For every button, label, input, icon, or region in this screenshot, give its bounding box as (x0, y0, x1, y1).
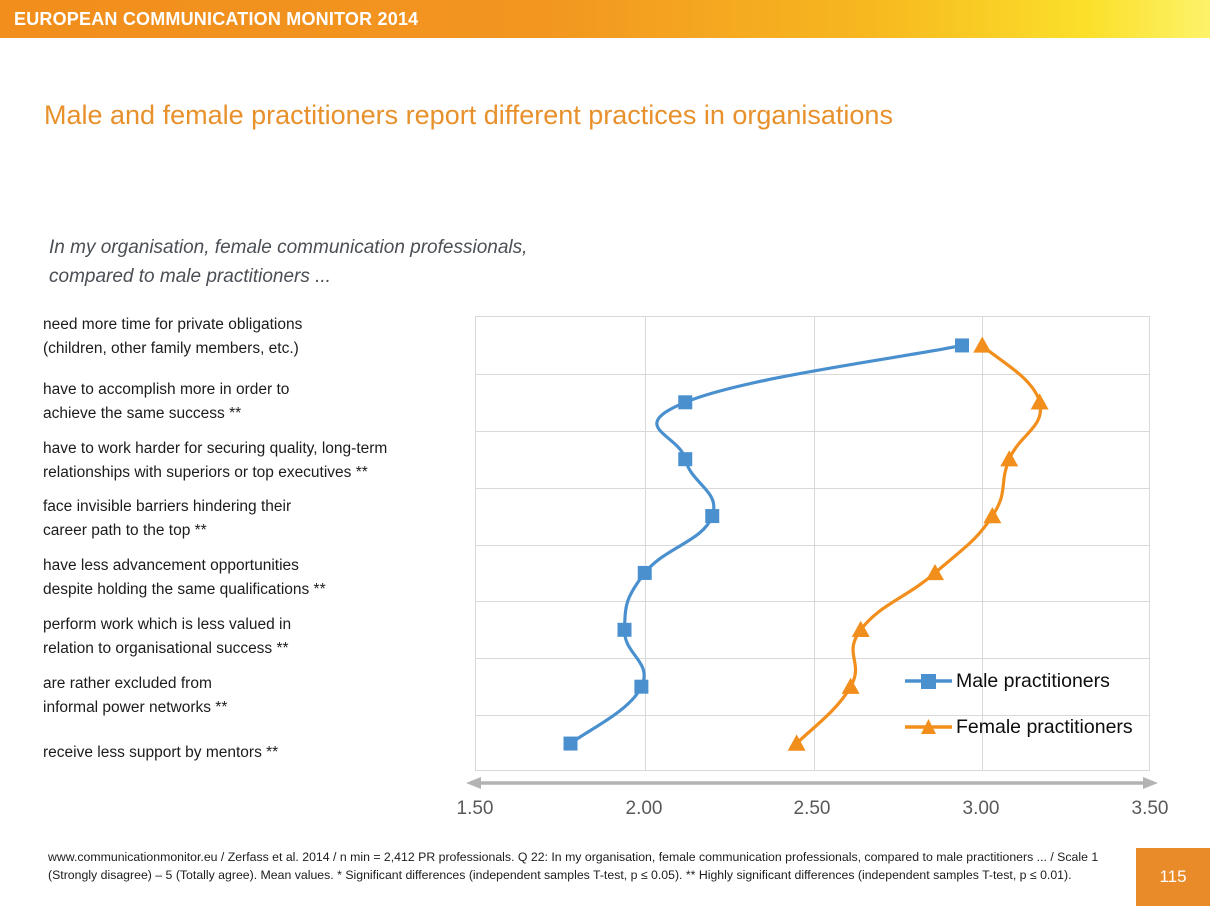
x-axis-arrow (466, 775, 1158, 791)
category-label-8: receive less support by mentors ** (43, 741, 278, 765)
legend-label-male: Male practitioners (956, 670, 1110, 693)
category-label-4: face invisible barriers hindering their … (43, 495, 291, 542)
data-point-female-practitioners-4 (983, 507, 1001, 523)
category-label-7-line1: are rather excluded from (43, 672, 227, 696)
question-stem-line-1: In my organisation, female communication… (49, 233, 689, 262)
header-band: EUROPEAN COMMUNICATION MONITOR 2014 (0, 0, 1210, 38)
data-point-male-practitioners-5 (638, 566, 652, 580)
legend-marker-square-icon (905, 672, 952, 690)
category-label-6-line1: perform work which is less valued in (43, 613, 291, 637)
question-stem: In my organisation, female communication… (49, 233, 689, 292)
category-label-8-line1: receive less support by mentors ** (43, 741, 278, 765)
question-stem-line-2: compared to male practitioners ... (49, 262, 689, 291)
x-tick-label-2: 2.00 (626, 798, 663, 820)
category-label-5-line2: despite holding the same qualifications … (43, 578, 326, 602)
category-label-4-line2: career path to the top ** (43, 519, 291, 543)
data-point-male-practitioners-4 (705, 509, 719, 523)
data-point-male-practitioners-2 (678, 395, 692, 409)
data-point-male-practitioners-1 (955, 338, 969, 352)
legend-item-female[interactable]: Female practitioners (905, 710, 1133, 744)
category-label-3: have to work harder for securing quality… (43, 437, 387, 484)
category-label-5-line1: have less advancement opportunities (43, 554, 326, 578)
category-label-1-line1: need more time for private obligations (43, 313, 302, 337)
data-point-female-practitioners-1 (973, 336, 991, 352)
category-label-3-line2: relationships with superiors or top exec… (43, 461, 387, 485)
x-tick-label-5: 3.50 (1132, 798, 1169, 820)
chart-legend: Male practitioners Female practitioners (905, 664, 1133, 756)
x-tick-label-4: 3.00 (963, 798, 1000, 820)
category-label-6: perform work which is less valued in rel… (43, 613, 291, 660)
data-point-male-practitioners-7 (634, 680, 648, 694)
x-tick-label-3: 2.50 (794, 798, 831, 820)
category-label-5: have less advancement opportunities desp… (43, 554, 326, 601)
page-title: Male and female practitioners report dif… (44, 100, 1104, 131)
data-point-female-practitioners-3 (1000, 450, 1018, 466)
category-label-4-line1: face invisible barriers hindering their (43, 495, 291, 519)
line-male-practitioners (571, 345, 963, 743)
data-point-male-practitioners-6 (618, 623, 632, 637)
category-label-list: need more time for private obligations (… (43, 313, 473, 783)
category-label-2-line2: achieve the same success ** (43, 402, 289, 426)
footer-source-note: www.communicationmonitor.eu / Zerfass et… (48, 848, 1113, 884)
category-label-7: are rather excluded from informal power … (43, 672, 227, 719)
category-label-1-line2: (children, other family members, etc.) (43, 337, 302, 361)
data-point-female-practitioners-2 (1031, 393, 1049, 409)
data-point-male-practitioners-8 (564, 737, 578, 751)
data-point-male-practitioners-3 (678, 452, 692, 466)
x-tick-label-1: 1.50 (457, 798, 494, 820)
legend-marker-triangle-icon (905, 718, 952, 736)
category-label-6-line2: relation to organisational success ** (43, 637, 291, 661)
category-label-2-line1: have to accomplish more in order to (43, 378, 289, 402)
data-point-female-practitioners-7 (842, 678, 860, 694)
category-label-7-line2: informal power networks ** (43, 696, 227, 720)
category-label-1: need more time for private obligations (… (43, 313, 302, 360)
legend-label-female: Female practitioners (956, 716, 1133, 739)
category-label-3-line1: have to work harder for securing quality… (43, 437, 387, 461)
page-number-badge: 115 (1136, 848, 1210, 906)
legend-item-male[interactable]: Male practitioners (905, 664, 1133, 698)
category-label-2: have to accomplish more in order to achi… (43, 378, 289, 425)
header-title: EUROPEAN COMMUNICATION MONITOR 2014 (14, 9, 418, 30)
